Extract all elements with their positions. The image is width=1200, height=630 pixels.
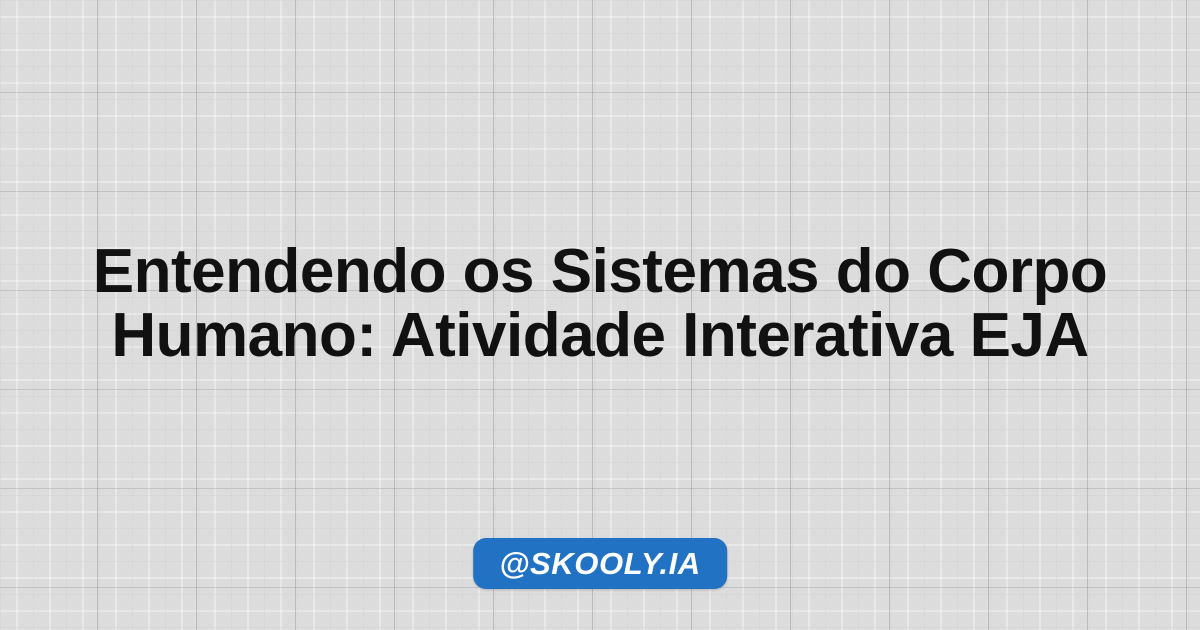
brand-badge: @SKOOLY.IA <box>473 538 727 589</box>
card-content: Entendendo os Sistemas do Corpo Humano: … <box>0 0 1200 630</box>
page-title: Entendendo os Sistemas do Corpo Humano: … <box>0 240 1200 368</box>
brand-badge-label: @SKOOLY.IA <box>499 548 701 579</box>
social-share-card: Entendendo os Sistemas do Corpo Humano: … <box>0 0 1200 630</box>
